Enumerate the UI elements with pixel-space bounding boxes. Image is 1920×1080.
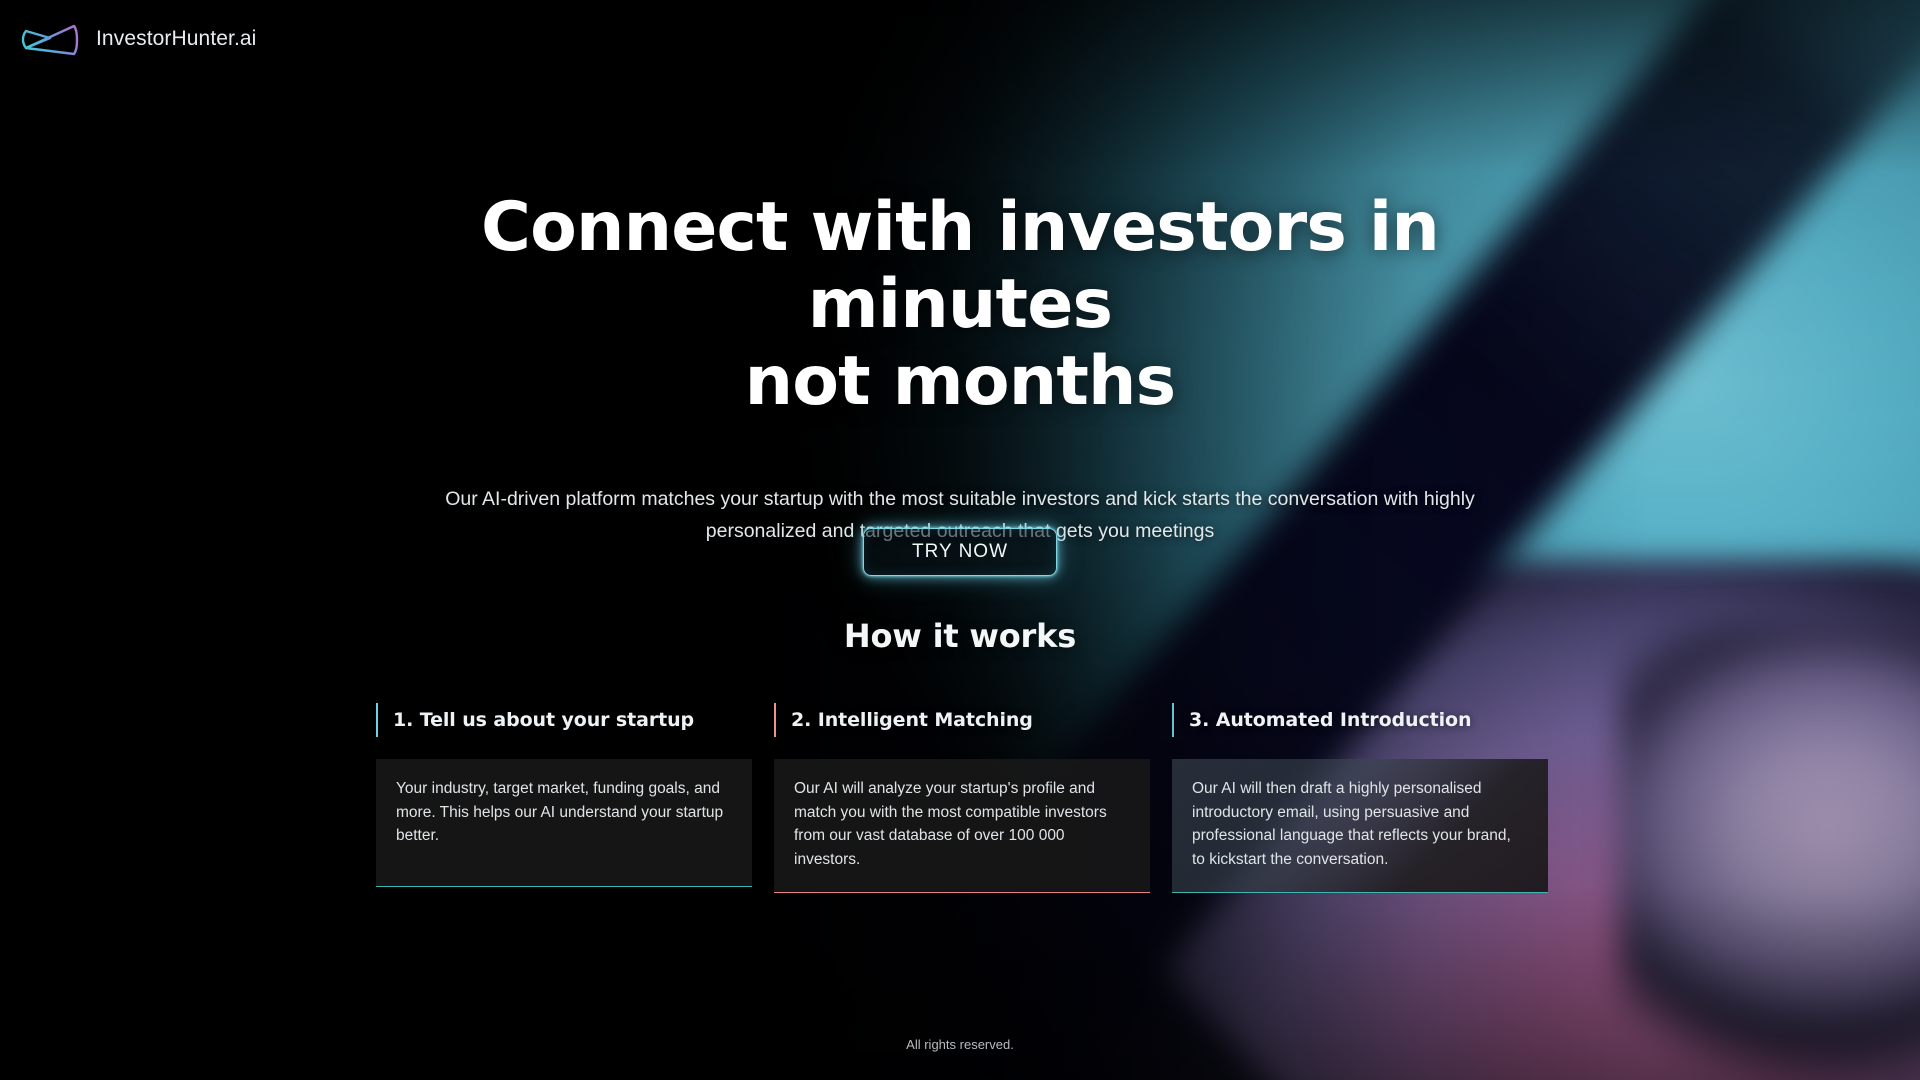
step-header: 1. Tell us about your startup — [376, 703, 752, 737]
step-title: 2. Intelligent Matching — [791, 709, 1033, 731]
how-it-works-heading: How it works — [0, 617, 1920, 655]
site-footer: All rights reserved. — [0, 1008, 1920, 1080]
brand-name: InvestorHunter.ai — [96, 27, 256, 51]
step-body: Your industry, target market, funding go… — [376, 759, 752, 887]
step-card: 1. Tell us about your startup Your indus… — [376, 703, 752, 893]
try-now-button[interactable]: TRY NOW — [863, 528, 1057, 576]
infinity-bowtie-logo-icon — [20, 17, 82, 61]
copyright-text: All rights reserved. — [906, 1037, 1014, 1052]
step-card: 2. Intelligent Matching Our AI will anal… — [774, 703, 1150, 893]
how-it-works-steps: 1. Tell us about your startup Your indus… — [376, 703, 1548, 893]
site-header: InvestorHunter.ai — [0, 0, 1920, 78]
step-body: Our AI will analyze your startup's profi… — [774, 759, 1150, 893]
step-body: Our AI will then draft a highly personal… — [1172, 759, 1548, 893]
page-title: Connect with investors in minutes not mo… — [400, 190, 1520, 420]
hero-section: Connect with investors in minutes not mo… — [0, 190, 1920, 548]
step-header: 2. Intelligent Matching — [774, 703, 1150, 737]
step-header: 3. Automated Introduction — [1172, 703, 1548, 737]
brand-logo-link[interactable]: InvestorHunter.ai — [20, 17, 256, 61]
step-title: 3. Automated Introduction — [1189, 709, 1471, 731]
step-title: 1. Tell us about your startup — [393, 709, 694, 731]
hero-title-line-1: Connect with investors in minutes — [481, 188, 1439, 344]
cta-container: TRY NOW — [0, 528, 1920, 576]
step-card: 3. Automated Introduction Our AI will th… — [1172, 703, 1548, 893]
hero-title-line-2: not months — [745, 342, 1176, 421]
landing-page: InvestorHunter.ai Connect with investors… — [0, 0, 1920, 1080]
